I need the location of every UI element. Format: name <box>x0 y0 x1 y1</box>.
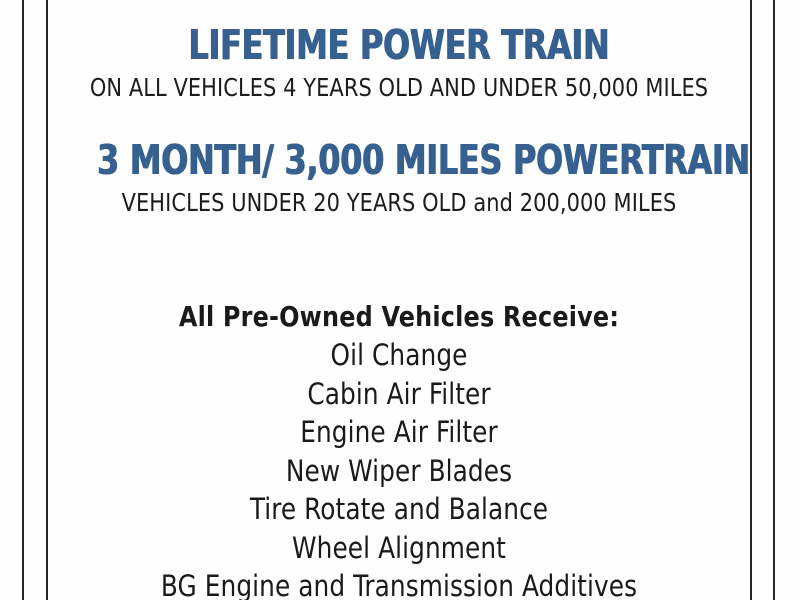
frame-rule-right-outer <box>773 0 775 600</box>
flyer-content: LIFETIME POWER TRAIN ON ALL VEHICLES 4 Y… <box>48 0 750 600</box>
list-item: Tire Rotate and Balance <box>66 490 733 529</box>
warranty-offer-lifetime-power-train: LIFETIME POWER TRAIN ON ALL VEHICLES 4 Y… <box>48 0 750 103</box>
included-services-section: All Pre-Owned Vehicles Receive: Oil Chan… <box>48 298 750 600</box>
list-item: Oil Change <box>66 336 733 375</box>
list-item: Cabin Air Filter <box>66 375 733 414</box>
list-item: Wheel Alignment <box>66 529 733 568</box>
warranty-headline: 3 MONTH/ 3,000 MILES POWERTRAIN <box>97 137 701 183</box>
warranty-subtitle: ON ALL VEHICLES 4 YEARS OLD AND UNDER 50… <box>73 73 726 103</box>
warranty-subtitle: VEHICLES UNDER 20 YEARS OLD and 200,000 … <box>73 188 726 218</box>
list-item: BG Engine and Transmission Additives <box>66 567 733 600</box>
warranty-offer-3-month-powertrain: 3 MONTH/ 3,000 MILES POWERTRAIN VEHICLES… <box>48 103 750 218</box>
warranty-headline: LIFETIME POWER TRAIN <box>97 22 701 68</box>
list-item: Engine Air Filter <box>66 413 733 452</box>
frame-rule-right-inner <box>750 0 752 600</box>
services-list: Oil Change Cabin Air Filter Engine Air F… <box>48 336 750 600</box>
warranty-flyer: LIFETIME POWER TRAIN ON ALL VEHICLES 4 Y… <box>0 0 800 600</box>
list-item: New Wiper Blades <box>66 452 733 491</box>
services-heading: All Pre-Owned Vehicles Receive: <box>66 298 733 336</box>
frame-rule-left-outer <box>22 0 24 600</box>
